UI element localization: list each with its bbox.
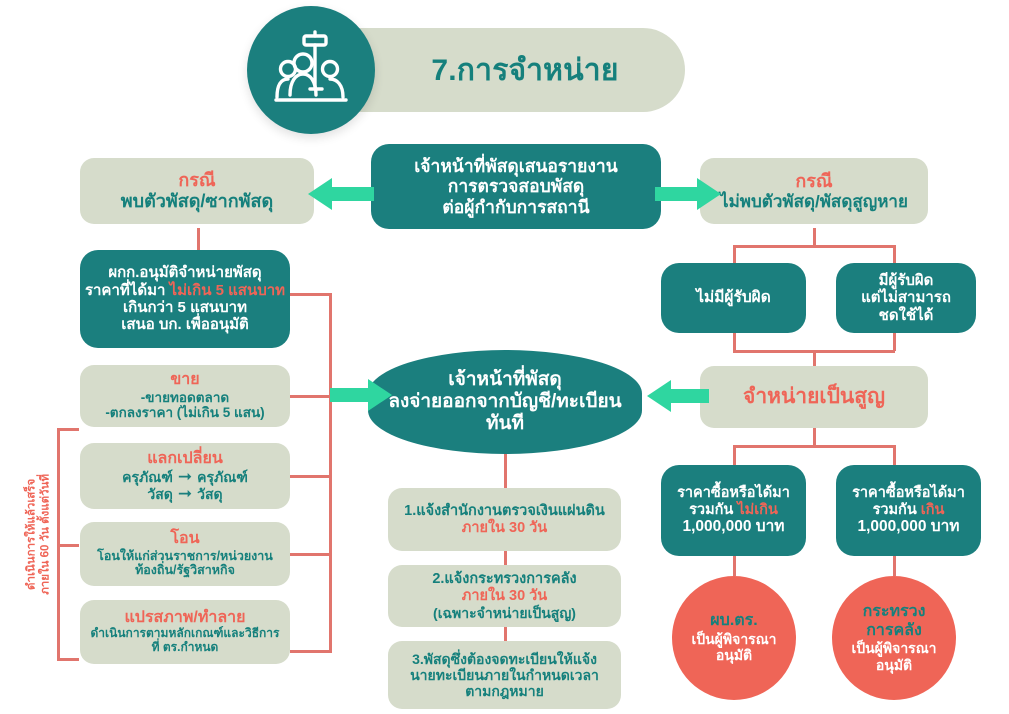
method-sell-box[interactable]: ขาย -ขายทอดตลาด -ตกลงราคา (ไม่เกิน 5 แสน… <box>80 365 290 427</box>
write-off-label: จำหน่ายเป็นสูญ <box>743 385 885 409</box>
inspection-officer-icon <box>247 6 375 134</box>
connector-method-1 <box>290 395 332 398</box>
liability-none-line: ไม่มีผู้รับผิด <box>696 289 771 307</box>
connector-method-2 <box>290 475 332 478</box>
method-exchange-box[interactable]: แลกเปลี่ยน ครุภัณฑ์ ➞ ครุภัณฑ์ วัสดุ ➞ ว… <box>80 443 290 509</box>
threshold-over-box[interactable]: ราคาซื้อหรือได้มา รวมกัน เกิน 1,000,000 … <box>836 465 981 556</box>
approver-ministry-circle[interactable]: กระทรวง การคลัง เป็นผู้พิจารณา อนุมัติ <box>832 576 956 700</box>
approval-box[interactable]: ผกก.อนุมัติจำหน่ายพัสดุ ราคาที่ได้มา ไม่… <box>80 250 290 348</box>
deadline-side-note: ดำเนินการให้แล้วเสร็จ ภายใน 60 วัน ตั้งแ… <box>25 429 54 639</box>
threshold-under-line-2-prefix: รวมกัน <box>689 502 737 518</box>
liability-cannot-pay-box[interactable]: มีผู้รับผิด แต่ไม่สามารถ ชดใช้ได้ <box>836 263 976 333</box>
approver-ministry-heading-line-2: การคลัง <box>866 622 922 641</box>
threshold-over-line-2-prefix: รวมกัน <box>873 502 921 518</box>
arrow-right-to-oval-icon <box>328 374 394 416</box>
threshold-over-line-2-highlight: เกิน <box>921 502 945 518</box>
threshold-under-box[interactable]: ราคาซื้อหรือได้มา รวมกัน ไม่เกิน 1,000,0… <box>661 465 806 556</box>
report-line-1: เจ้าหน้าที่พัสดุเสนอรายงาน <box>414 156 617 176</box>
connector-step2-to-step3 <box>504 627 507 641</box>
method-transfer-line-2: ท้องถิ่น/รัฐวิสาหกิจ <box>135 563 235 578</box>
connector-writeoff-down <box>813 428 816 446</box>
approver-commissioner-circle[interactable]: ผบ.ตร. เป็นผู้พิจารณา อนุมัติ <box>672 576 796 700</box>
case-found-box[interactable]: กรณี พบตัวพัสดุ/ซากพัสดุ <box>80 158 314 224</box>
approval-line-3: เกินกว่า 5 แสนบาท <box>123 299 247 316</box>
record-line-2: ลงจ่ายออกจากบัญชี/ทะเบียน <box>388 391 621 413</box>
threshold-under-line-2-highlight: ไม่เกิน <box>737 502 778 518</box>
threshold-over-line-1: ราคาซื้อหรือได้มา <box>852 485 965 502</box>
threshold-over-line-3: 1,000,000 บาท <box>857 518 959 536</box>
approval-line-4: เสนอ บก. เพื่ออนุมัติ <box>121 316 249 333</box>
connector-side-note-tick-1 <box>57 428 79 431</box>
connector-writeoff-in <box>813 350 816 366</box>
right-arrow-icon: ➞ <box>175 468 195 485</box>
threshold-under-line-1: ราคาซื้อหรือได้มา <box>677 485 790 502</box>
method-sell-heading: ขาย <box>170 371 199 390</box>
record-line-1: เจ้าหน้าที่พัสดุ <box>448 369 561 391</box>
case-found-heading: กรณี <box>178 170 215 191</box>
method-destroy-box[interactable]: แปรสภาพ/ทำลาย ดำเนินการตามหลักเกณฑ์และวิ… <box>80 600 290 664</box>
connector-threshold-left-to-approver <box>733 556 736 576</box>
connector-approval-right <box>290 293 332 296</box>
notify-step-1-line-2: ภายใน 30 วัน <box>462 520 547 537</box>
case-missing-line: ไม่พบตัวพัสดุ/พัสดุสูญหาย <box>720 192 908 212</box>
approver-commissioner-heading: ผบ.ตร. <box>710 612 757 631</box>
connector-step1-to-step2 <box>504 551 507 565</box>
connector-method-3 <box>290 553 332 556</box>
method-exchange-row-1: ครุภัณฑ์ ➞ ครุภัณฑ์ <box>122 468 248 485</box>
method-exchange-row-2: วัสดุ ➞ วัสดุ <box>147 485 222 502</box>
connector-left-spine <box>329 293 332 653</box>
approver-ministry-line-1: เป็นผู้พิจารณา <box>851 640 936 656</box>
connector-liability-right-down <box>893 245 896 263</box>
case-missing-box[interactable]: กรณี ไม่พบตัวพัสดุ/พัสดุสูญหาย <box>700 158 928 224</box>
connector-threshold-right-down <box>893 445 896 465</box>
arrow-left-icon <box>306 172 376 216</box>
method-sell-line-2: -ตกลงราคา (ไม่เกิน 5 แสน) <box>105 405 264 421</box>
liability-none-box[interactable]: ไม่มีผู้รับผิด <box>661 263 806 333</box>
approver-ministry-line-2: อนุมัติ <box>876 657 912 673</box>
side-note-line-2: ภายใน 60 วัน ตั้งแต่วันที่ <box>39 429 53 639</box>
report-line-2: การตรวจสอบพัสดุ <box>448 176 585 196</box>
approver-commissioner-line-1: เป็นผู้พิจารณา <box>691 631 776 647</box>
connector-right-case-down <box>813 228 816 246</box>
page-title: 7.การจำหน่าย <box>371 47 618 94</box>
connector-left-case-to-approval <box>197 228 200 252</box>
write-off-box[interactable]: จำหน่ายเป็นสูญ <box>700 366 928 428</box>
method-destroy-line-2: ที่ ตร.กำหนด <box>152 641 219 655</box>
notify-step-3-line-1: 3.พัสดุซึ่งต้องจดทะเบียนให้แจ้ง <box>412 651 597 667</box>
notify-step-1-box[interactable]: 1.แจ้งสำนักงานตรวจเงินแผ่นดิน ภายใน 30 ว… <box>388 488 621 551</box>
connector-method-4 <box>290 650 332 653</box>
exchange-from-2: วัสดุ <box>147 486 173 502</box>
liability-cannot-pay-line-3: ชดใช้ได้ <box>879 307 934 324</box>
case-found-line: พบตัวพัสดุ/ซากพัสดุ <box>121 191 273 212</box>
notify-step-2-box[interactable]: 2.แจ้งกระทรวงการคลัง ภายใน 30 วัน (เฉพาะ… <box>388 565 621 627</box>
method-transfer-box[interactable]: โอน โอนให้แก่ส่วนราชการ/หน่วยงาน ท้องถิ่… <box>80 522 290 586</box>
connector-side-note-tick-3 <box>57 658 79 661</box>
exchange-to-2: วัสดุ <box>197 486 223 502</box>
connector-liability-right-to-writeoff <box>893 333 896 351</box>
report-line-3: ต่อผู้กำกับการสถานี <box>442 197 589 217</box>
case-missing-heading: กรณี <box>795 171 832 192</box>
record-line-3: ทันที <box>486 413 524 435</box>
diagram-canvas: 7.การจำหน่าย <box>0 0 1009 714</box>
exchange-to-1: ครุภัณฑ์ <box>197 469 248 485</box>
notify-step-2-line-3: (เฉพาะจำหน่ายเป็นสูญ) <box>433 605 576 621</box>
approval-line-2-prefix: ราคาที่ได้มา <box>85 282 170 299</box>
report-inspection-box[interactable]: เจ้าหน้าที่พัสดุเสนอรายงาน การตรวจสอบพัส… <box>371 144 661 229</box>
record-oval[interactable]: เจ้าหน้าที่พัสดุ ลงจ่ายออกจากบัญชี/ทะเบี… <box>368 350 642 454</box>
connector-liability-left-to-writeoff <box>733 333 736 351</box>
side-note-line-1: ดำเนินการให้แล้วเสร็จ <box>25 429 39 639</box>
notify-step-1-line-1: 1.แจ้งสำนักงานตรวจเงินแผ่นดิน <box>404 503 605 520</box>
exchange-from-1: ครุภัณฑ์ <box>122 469 173 485</box>
approver-ministry-heading-line-1: กระทรวง <box>863 603 926 622</box>
notify-step-3-line-3: ตามกฎหมาย <box>465 683 544 699</box>
arrow-right-icon <box>653 172 723 216</box>
connector-threshold-left-down <box>733 445 736 465</box>
right-arrow-icon: ➞ <box>175 485 195 502</box>
notify-step-2-line-1: 2.แจ้งกระทรวงการคลัง <box>432 571 576 588</box>
liability-cannot-pay-line-1: มีผู้รับผิด <box>879 272 934 289</box>
method-sell-line-1: -ขายทอดตลาด <box>141 390 229 406</box>
notify-step-2-line-2: ภายใน 30 วัน <box>462 588 547 605</box>
connector-right-case-bracket <box>733 245 895 248</box>
approval-line-1: ผกก.อนุมัติจำหน่ายพัสดุ <box>108 264 261 281</box>
method-transfer-heading: โอน <box>170 530 199 549</box>
liability-cannot-pay-line-2: แต่ไม่สามารถ <box>861 289 951 306</box>
connector-oval-to-step1 <box>504 452 507 488</box>
connector-threshold-right-to-approver <box>893 556 896 576</box>
connector-threshold-bracket <box>733 445 895 448</box>
connector-side-note-tick-2 <box>57 544 79 547</box>
notify-step-3-box[interactable]: 3.พัสดุซึ่งต้องจดทะเบียนให้แจ้ง นายทะเบี… <box>388 641 621 709</box>
method-exchange-heading: แลกเปลี่ยน <box>147 450 223 469</box>
method-destroy-heading: แปรสภาพ/ทำลาย <box>124 609 245 628</box>
method-transfer-line-1: โอนให้แก่ส่วนราชการ/หน่วยงาน <box>97 549 273 564</box>
approval-line-2-highlight: ไม่เกิน 5 แสนบาท <box>170 282 285 299</box>
approver-commissioner-line-2: อนุมัติ <box>716 647 752 663</box>
arrow-left-from-writeoff-icon <box>645 375 711 417</box>
notify-step-3-line-2: นายทะเบียนภายในกำหนดเวลา <box>410 667 599 683</box>
threshold-under-line-3: 1,000,000 บาท <box>682 518 784 536</box>
connector-liability-left-down <box>733 245 736 263</box>
